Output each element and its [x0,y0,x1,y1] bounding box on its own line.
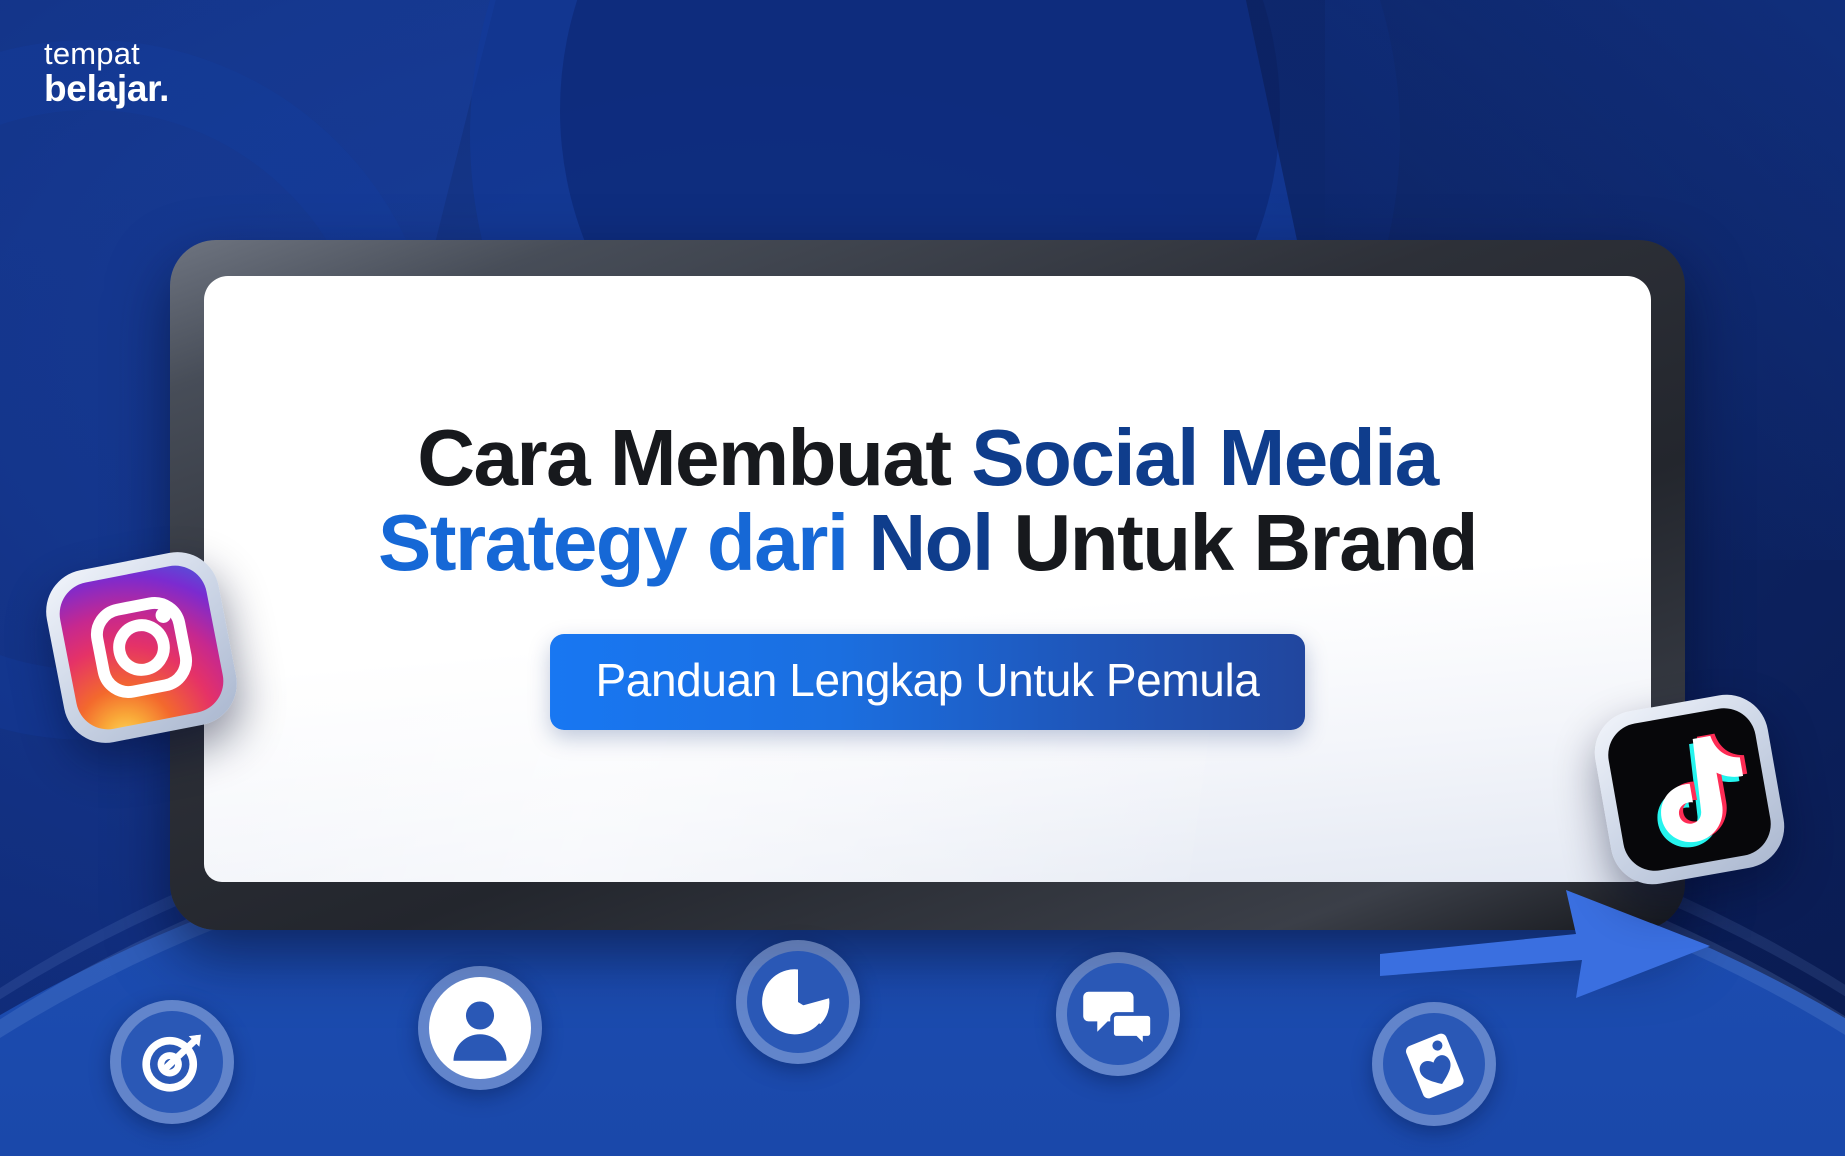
instagram-icon [54,560,229,735]
brand-logo: tempat belajar. [44,38,169,107]
headline-seg-strategy-dari: Strategy dari [378,498,868,587]
audience-icon-core [429,977,531,1079]
target-icon[interactable] [110,1000,234,1124]
logo-line-top: tempat [44,38,169,70]
headline-seg-social-media: Social Media [971,413,1438,502]
headline-seg-nol: Nol [868,498,992,587]
page-title: Cara Membuat Social Media Strategy dari … [204,416,1651,586]
logo-line-bottom: belajar. [44,70,169,108]
tiktok-tile[interactable] [1588,688,1791,891]
pie-chart-icon-core [747,951,849,1053]
target-icon-core [121,1011,223,1113]
price-tag-heart-icon-core [1383,1013,1485,1115]
chat-bubbles-icon-core [1067,963,1169,1065]
arrow-right-icon [1380,880,1710,1005]
price-tag-heart-icon[interactable] [1372,1002,1496,1126]
audience-icon[interactable] [418,966,542,1090]
headline-seg-untuk-brand: Untuk Brand [993,498,1477,587]
instagram-tile[interactable] [39,545,244,750]
laptop-mockup: Cara Membuat Social Media Strategy dari … [170,240,1685,930]
headline-seg-cara-membuat: Cara Membuat [417,413,971,502]
subtitle-badge: Panduan Lengkap Untuk Pemula [550,634,1306,730]
tiktok-icon [1603,703,1776,876]
headline-line-2: Strategy dari Nol Untuk Brand [244,501,1611,586]
chat-bubbles-icon[interactable] [1056,952,1180,1076]
poster-canvas: tempat belajar. Cara Membuat Social Medi… [0,0,1845,1156]
headline-line-1: Cara Membuat Social Media [244,416,1611,501]
pie-chart-icon[interactable] [736,940,860,1064]
laptop-screen: Cara Membuat Social Media Strategy dari … [204,276,1651,882]
